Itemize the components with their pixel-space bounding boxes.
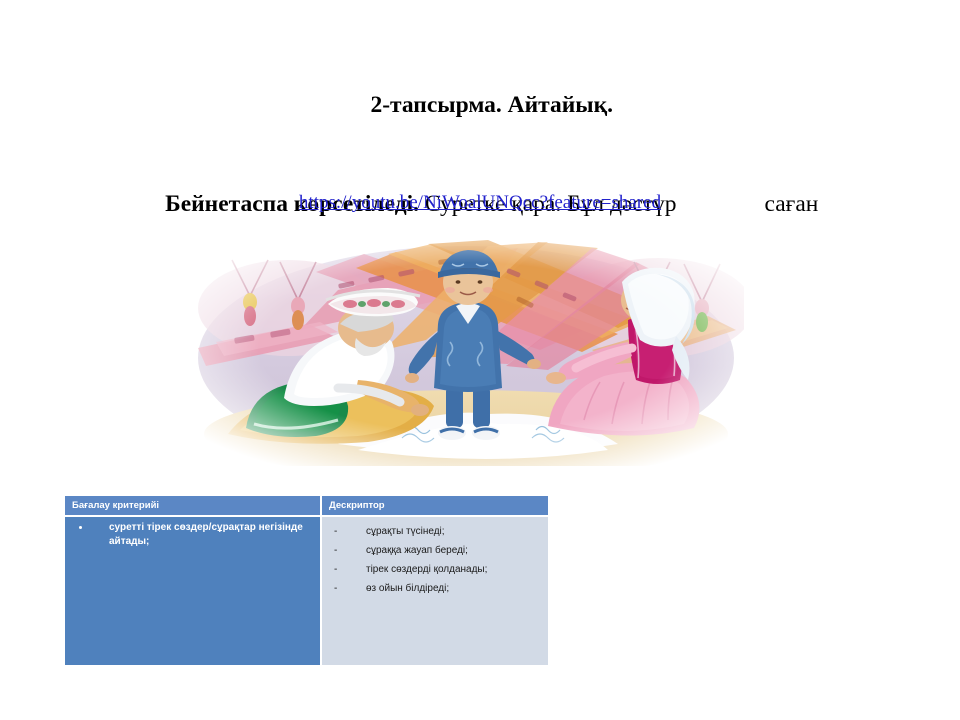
table-header-row: Бағалау критерийі Дескриптор	[65, 496, 548, 516]
video-link[interactable]: https://youtu.be/NiWoalUNQcc?feature=sha…	[299, 192, 661, 213]
criteria-list: суретті тірек сөздер/сұрақтар негізінде …	[65, 521, 320, 548]
video-link-row: https://youtu.be/NiWoalUNQcc?feature=sha…	[50, 192, 910, 214]
descriptor-list: сұрақты түсінеді; сұраққа жауап береді; …	[322, 522, 548, 598]
title-line-1-text: 2-тапсырма. Айтайық.	[370, 92, 613, 118]
list-item: өз ойын білдіреді;	[334, 579, 544, 598]
tradition-illustration	[188, 238, 744, 466]
assessment-criteria-table: Бағалау критерийі Дескриптор суретті тір…	[65, 496, 548, 665]
table-row: суретті тірек сөздер/сұрақтар негізінде …	[65, 516, 548, 665]
criteria-cell: суретті тірек сөздер/сұрақтар негізінде …	[65, 516, 321, 665]
column-header-criteria: Бағалау критерийі	[65, 496, 321, 516]
title-line-1: 2-тапсырма. Айтайық.	[50, 56, 910, 155]
illustration-svg	[188, 238, 744, 466]
list-item: тірек сөздерді қолданады;	[334, 560, 544, 579]
list-item: суретті тірек сөздер/сұрақтар негізінде …	[91, 521, 314, 548]
list-item: сұрақты түсінеді;	[334, 522, 544, 541]
list-item: сұраққа жауап береді;	[334, 541, 544, 560]
descriptor-cell: сұрақты түсінеді; сұраққа жауап береді; …	[321, 516, 548, 665]
column-header-descriptor: Дескриптор	[321, 496, 548, 516]
